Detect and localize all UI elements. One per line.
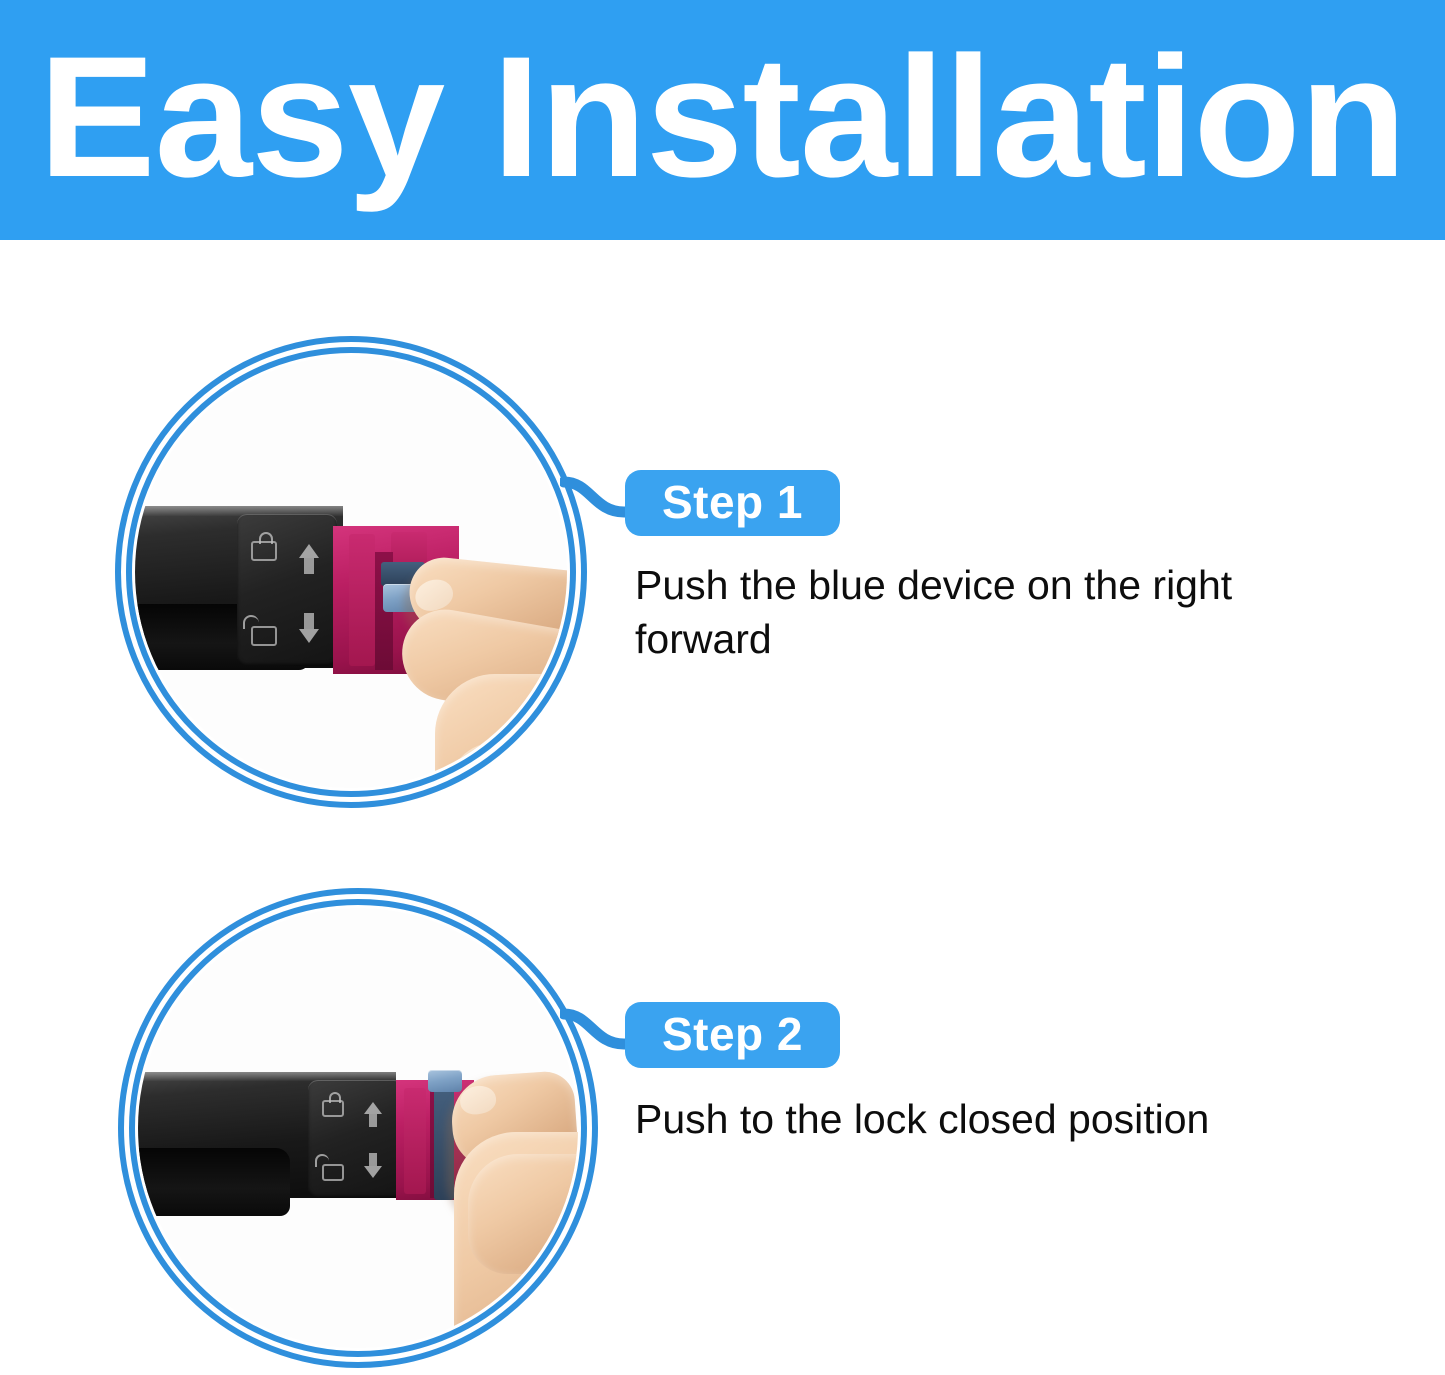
step-2-description: Push to the lock closed position — [635, 1092, 1355, 1146]
step-1-badge[interactable]: Step 1 — [625, 470, 840, 536]
photo-ring-outer — [118, 888, 598, 1368]
photo-ring-outer — [115, 336, 587, 808]
step-2-badge[interactable]: Step 2 — [625, 1002, 840, 1068]
step-1-block: Step 1 Push the blue device on the right… — [0, 300, 1445, 845]
step-2-badge-label: Step 2 — [662, 1011, 803, 1057]
step-1-badge-label: Step 1 — [662, 479, 803, 525]
step-1-photo-circle — [115, 336, 587, 808]
step-2-photo-circle — [118, 888, 598, 1368]
step-1-description: Push the blue device on the right forwar… — [635, 558, 1335, 666]
header-banner: Easy Installation — [0, 0, 1445, 240]
page-title: Easy Installation — [39, 31, 1406, 203]
step-2-block: Step 2 Push to the lock closed position — [0, 852, 1445, 1375]
